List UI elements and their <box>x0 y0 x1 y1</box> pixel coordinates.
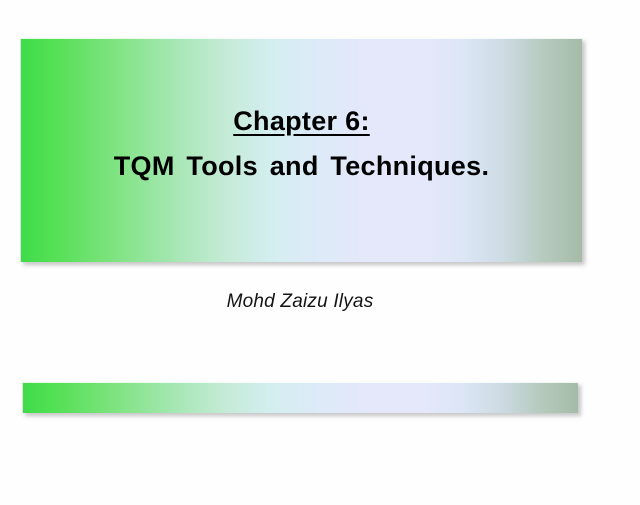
chapter-subtitle: TQM Tools and Techniques. <box>21 147 582 186</box>
presentation-slide: Chapter 6: TQM Tools and Techniques. Moh… <box>0 0 640 505</box>
title-banner-content: Chapter 6: TQM Tools and Techniques. <box>21 105 582 186</box>
chapter-heading: Chapter 6: <box>233 105 370 139</box>
title-banner: Chapter 6: TQM Tools and Techniques. <box>20 38 582 262</box>
author-name: Mohd Zaizu Ilyas <box>0 291 600 313</box>
bottom-accent-bar <box>22 382 578 413</box>
